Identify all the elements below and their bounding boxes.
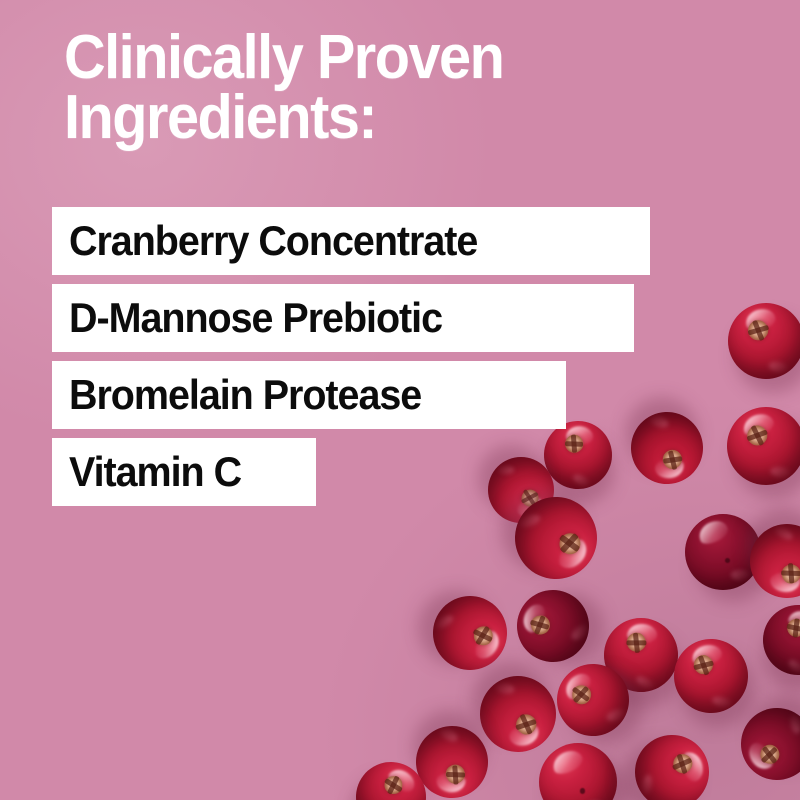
cranberry	[685, 514, 761, 590]
cranberry	[722, 402, 800, 490]
cranberry	[735, 702, 800, 785]
cranberry-rim-light	[606, 707, 627, 722]
cranberry	[539, 743, 617, 800]
cranberry-calyx-star-icon	[784, 615, 800, 640]
ingredient-label: D-Mannose Prebiotic	[69, 297, 442, 339]
cranberry-calyx-star-icon	[760, 745, 780, 765]
cranberry	[502, 575, 603, 676]
cranberry-rim-light	[494, 682, 515, 695]
cranberry-rim-light	[712, 695, 733, 709]
cranberry-rim-light	[649, 414, 670, 429]
cranberry-highlight	[549, 746, 586, 778]
cranberry-rim-light	[640, 775, 653, 796]
ingredient-list: Cranberry ConcentrateD-Mannose Prebiotic…	[52, 207, 650, 506]
cranberry-rim-light	[787, 657, 800, 676]
cranberry-rim-light	[518, 512, 542, 529]
cranberry-highlight	[695, 517, 731, 548]
cranberry-rim-light	[768, 360, 789, 374]
cranberry-rim-light	[433, 613, 454, 631]
cranberry-rim-light	[773, 524, 794, 542]
ingredient-label: Vitamin C	[69, 451, 241, 493]
ingredient-label: Cranberry Concentrate	[69, 220, 477, 262]
ingredient-bar: Cranberry Concentrate	[52, 207, 650, 275]
cranberry-rim-light	[770, 466, 791, 479]
cranberry	[419, 582, 520, 683]
cranberry-rim-light	[790, 714, 800, 734]
ingredient-bar: D-Mannose Prebiotic	[52, 284, 634, 352]
ingredient-label: Bromelain Protease	[69, 374, 421, 416]
cranberry-rim-light	[570, 623, 590, 642]
cranberry-rim-light	[731, 570, 751, 580]
cranberry	[749, 591, 800, 690]
cranberry-rim-light	[635, 674, 656, 692]
cranberry	[474, 670, 562, 758]
cranberry-rim-light	[438, 726, 459, 743]
cranberry	[666, 631, 756, 721]
ingredient-bar: Bromelain Protease	[52, 361, 566, 429]
cranberry-calyx-star-icon	[571, 685, 592, 706]
cranberry-stem-pore	[725, 558, 730, 563]
cranberry	[629, 729, 715, 800]
cranberry	[721, 296, 800, 386]
poster-canvas: Clinically Proven Ingredients: Cranberry…	[0, 0, 800, 800]
page-title: Clinically Proven Ingredients:	[64, 28, 678, 147]
ingredient-bar: Vitamin C	[52, 438, 316, 506]
cranberry-stem-pore	[580, 788, 585, 793]
